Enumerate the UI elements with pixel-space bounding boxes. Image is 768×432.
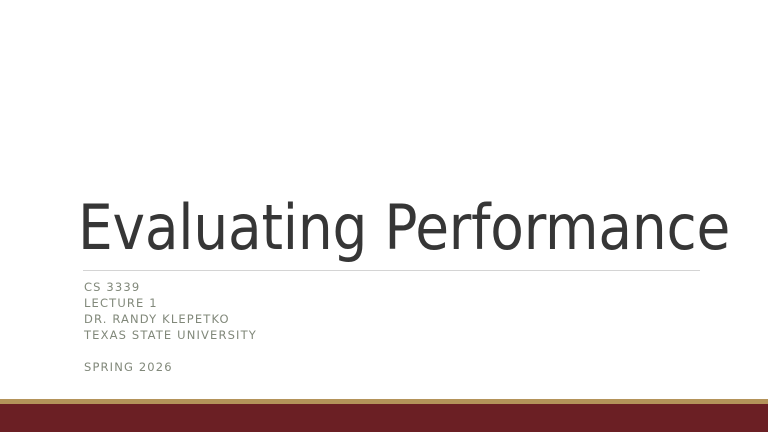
accent-bar-maroon <box>0 404 768 432</box>
subtitle-line-institution: TEXAS STATE UNIVERSITY <box>84 327 684 343</box>
subtitle-block: CS 3339 LECTURE 1 DR. RANDY KLEPETKO TEX… <box>84 279 684 375</box>
subtitle-line-lecture: LECTURE 1 <box>84 295 684 311</box>
subtitle-line-blank <box>84 343 684 359</box>
title-block: Evaluating Performance <box>78 192 706 264</box>
title-divider <box>83 270 700 271</box>
title-slide: Evaluating Performance CS 3339 LECTURE 1… <box>0 0 768 432</box>
subtitle-line-term: SPRING 2026 <box>84 359 684 375</box>
subtitle-line-course: CS 3339 <box>84 279 684 295</box>
subtitle-line-instructor: DR. RANDY KLEPETKO <box>84 311 684 327</box>
page-title: Evaluating Performance <box>78 192 697 264</box>
